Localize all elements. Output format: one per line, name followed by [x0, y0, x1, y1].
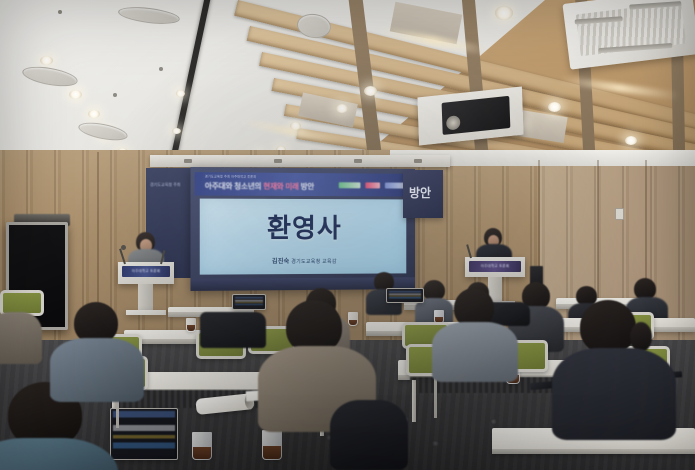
slide-header-band: 경기도교육청 주최 아주대학교 토론회 아주대와 청소년의 현재와 미래 방안 — [195, 172, 412, 196]
drink-cup[interactable] — [186, 318, 196, 332]
podium-right: 아주대학교 토론회 — [465, 257, 525, 277]
rail-bracket — [414, 159, 422, 163]
rail-bracket — [274, 159, 282, 163]
recessed-downlight — [176, 90, 185, 97]
slide-body: 환영사 김진숙 경기도교육청 교육감 — [200, 199, 407, 275]
audience-torso — [330, 400, 408, 470]
logo-green-icon — [339, 182, 361, 188]
recessed-downlight — [40, 56, 53, 65]
cup-liquid — [263, 446, 281, 459]
drink-cup[interactable] — [348, 312, 358, 326]
projector-lens — [446, 115, 460, 130]
podium-left-panel: 아주대학교 토론회 — [122, 266, 170, 277]
wall-seam — [597, 160, 599, 310]
podium-left: 아주대학교 토론회 — [118, 262, 174, 284]
drink-cup[interactable] — [192, 432, 212, 460]
drink-cup[interactable] — [262, 430, 282, 460]
vertical-banner: 방안 — [403, 170, 443, 218]
audience-torso — [0, 312, 42, 364]
slide-header-title-a: 아주대와 청소년의 — [205, 181, 263, 190]
slide-header-title-highlight: 현재와 미래 — [263, 182, 299, 191]
slide-header-title-c: 방안 — [299, 182, 314, 191]
logo-red-icon — [365, 182, 380, 188]
podium-left-stem — [138, 284, 153, 312]
podium-right-panel: 아주대학교 토론회 — [469, 261, 521, 272]
laptop[interactable] — [232, 294, 266, 310]
side-panel-text: 경기도교육청 주최 — [150, 182, 181, 188]
slide-subtitle: 김진숙 경기도교육청 교육감 — [272, 256, 337, 265]
wall-switch-plate[interactable] — [615, 208, 624, 220]
podium-left-panel-text: 아주대학교 토론회 — [122, 266, 170, 277]
laptop[interactable] — [386, 288, 424, 303]
rail-bracket — [354, 159, 362, 163]
projector-body — [442, 96, 511, 135]
recessed-downlight — [625, 136, 637, 145]
logo-blue-icon — [385, 183, 404, 189]
laptop-screen-ui — [389, 291, 421, 300]
chair-caster — [432, 440, 439, 447]
slide-logo-row — [339, 182, 405, 188]
podium-right-panel-text: 아주대학교 토론회 — [469, 261, 521, 272]
sprinkler-head — [113, 93, 117, 97]
table-leg — [412, 380, 416, 422]
podium-left-base — [126, 310, 166, 315]
slide-main-title: 환영사 — [267, 208, 342, 245]
recessed-downlight — [495, 6, 513, 20]
draped-coat — [200, 312, 266, 348]
audience-torso — [50, 338, 144, 402]
recessed-downlight — [172, 128, 181, 134]
microphone-head — [121, 245, 126, 250]
cup-liquid — [349, 320, 357, 325]
laptop[interactable] — [110, 408, 178, 460]
recessed-downlight — [69, 90, 82, 99]
rail-bracket — [184, 159, 192, 163]
screen-mounting-rail — [150, 155, 450, 167]
seminar-room-photo: 경기도교육청 주최 경기도교육청 주최 아주대학교 토론회 아주대와 청소년의 … — [0, 0, 695, 470]
recessed-downlight — [548, 102, 561, 112]
vertical-banner-text: 방안 — [409, 184, 431, 201]
table-edge — [492, 449, 695, 454]
chair-caster — [490, 418, 497, 425]
slide-kicker-text: 경기도교육청 주최 아주대학교 토론회 — [205, 174, 256, 178]
slide-speaker-affiliation: 경기도교육청 교육감 — [291, 259, 337, 265]
audience-head — [580, 300, 636, 354]
sprinkler-head — [159, 67, 163, 71]
audience-torso — [432, 322, 518, 382]
cup-liquid — [187, 325, 195, 331]
laptop-screen-ui — [235, 297, 263, 307]
recessed-downlight — [336, 104, 348, 113]
slide-speaker-name: 김진숙 — [272, 259, 290, 265]
recessed-downlight — [364, 86, 377, 96]
cup-liquid — [193, 447, 211, 459]
recessed-downlight — [88, 110, 100, 118]
laptop-screen-ui — [113, 411, 175, 457]
sprinkler-head — [58, 10, 62, 14]
slide-header-title: 아주대와 청소년의 현재와 미래 방안 — [205, 180, 314, 192]
audience-torso — [552, 348, 676, 440]
